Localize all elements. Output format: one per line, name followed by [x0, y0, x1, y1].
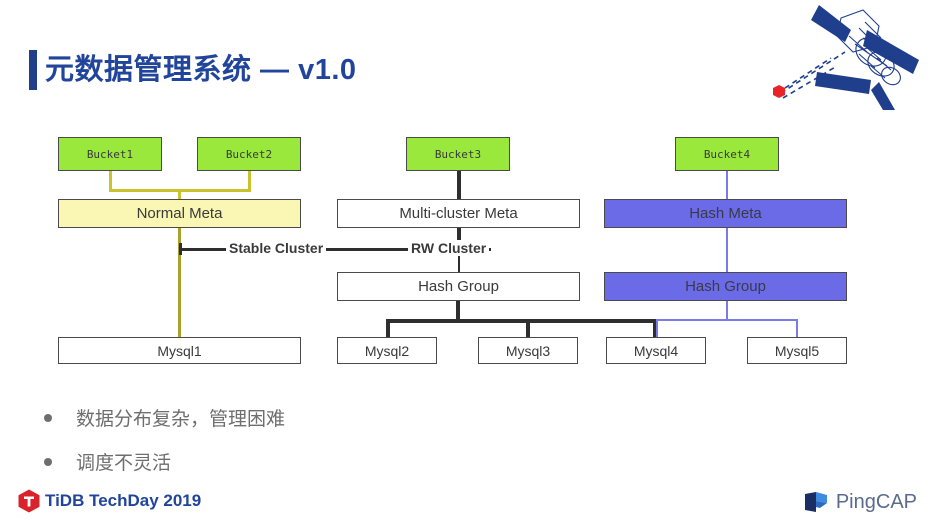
bullet-text: 调度不灵活 — [76, 448, 171, 475]
node-mysql3[interactable]: Mysql3 — [478, 337, 578, 364]
node-bucket4[interactable]: Bucket4 — [675, 137, 779, 171]
label-stable-cluster: Stable Cluster — [226, 240, 326, 256]
bullet-item-2: 调度不灵活 — [44, 448, 171, 475]
node-normal-meta[interactable]: Normal Meta — [58, 199, 301, 228]
node-label: Bucket2 — [226, 148, 272, 161]
edge-black-distribution-bar — [386, 319, 657, 323]
node-label: Mysql2 — [365, 343, 409, 359]
edge-cluster-bar-left-cap — [179, 243, 182, 255]
node-mysql1[interactable]: Mysql1 — [58, 337, 301, 364]
edge-join-normal-meta — [178, 189, 181, 199]
node-label: Mysql5 — [775, 343, 819, 359]
node-mysql2[interactable]: Mysql2 — [337, 337, 437, 364]
bullet-dot-icon — [44, 414, 52, 422]
edge-hash-meta-hash-group — [726, 228, 728, 272]
node-bucket1[interactable]: Bucket1 — [58, 137, 162, 171]
edge-black-to-mysql2 — [386, 319, 390, 337]
node-multi-cluster-meta[interactable]: Multi-cluster Meta — [337, 199, 580, 228]
node-label: Mysql1 — [157, 343, 201, 359]
node-label: Normal Meta — [137, 205, 223, 222]
bullet-text: 数据分布复杂，管理困难 — [76, 404, 285, 431]
node-mysql4[interactable]: Mysql4 — [606, 337, 706, 364]
node-bucket3[interactable]: Bucket3 — [406, 137, 510, 171]
node-label: Bucket4 — [704, 148, 750, 161]
node-bucket2[interactable]: Bucket2 — [197, 137, 301, 171]
edge-blue-to-mysql5 — [796, 319, 798, 337]
architecture-diagram: Bucket1 Bucket2 Bucket3 Bucket4 Normal M… — [0, 0, 939, 525]
bullet-dot-icon — [44, 458, 52, 466]
edge-blue-to-mysql4 — [656, 319, 658, 337]
edge-bucket4-hash-meta — [726, 171, 728, 199]
slide-canvas: 元数据管理系统 — v1.0 — [0, 0, 939, 525]
pingcap-text: PingCAP — [836, 491, 917, 514]
bullet-item-1: 数据分布复杂，管理困难 — [44, 404, 285, 431]
node-label: Mysql4 — [634, 343, 678, 359]
node-label: Hash Meta — [689, 205, 762, 222]
node-hash-group-black[interactable]: Hash Group — [337, 272, 580, 301]
tidb-hexagon-icon — [18, 489, 40, 513]
node-mysql5[interactable]: Mysql5 — [747, 337, 847, 364]
footer-right: PingCAP — [803, 489, 917, 515]
tidb-techday-text: TiDB TechDay 2019 — [45, 491, 201, 511]
edge-black-to-mysql3 — [526, 319, 530, 337]
footer-left: TiDB TechDay 2019 — [18, 489, 201, 513]
label-rw-cluster: RW Cluster — [408, 240, 489, 256]
node-label: Mysql3 — [506, 343, 550, 359]
pingcap-logo-icon — [803, 489, 829, 515]
node-label: Hash Group — [685, 278, 766, 295]
edge-blue-hash-group-down — [726, 301, 728, 320]
node-label: Bucket1 — [87, 148, 133, 161]
edge-hash-group-down — [456, 301, 460, 320]
edge-bucket3-multi-meta — [457, 171, 461, 199]
node-label: Multi-cluster Meta — [399, 205, 517, 222]
node-label: Hash Group — [418, 278, 499, 295]
node-hash-meta[interactable]: Hash Meta — [604, 199, 847, 228]
node-label: Bucket3 — [435, 148, 481, 161]
node-hash-group-blue[interactable]: Hash Group — [604, 272, 847, 301]
edge-blue-distribution-bar — [656, 319, 797, 321]
